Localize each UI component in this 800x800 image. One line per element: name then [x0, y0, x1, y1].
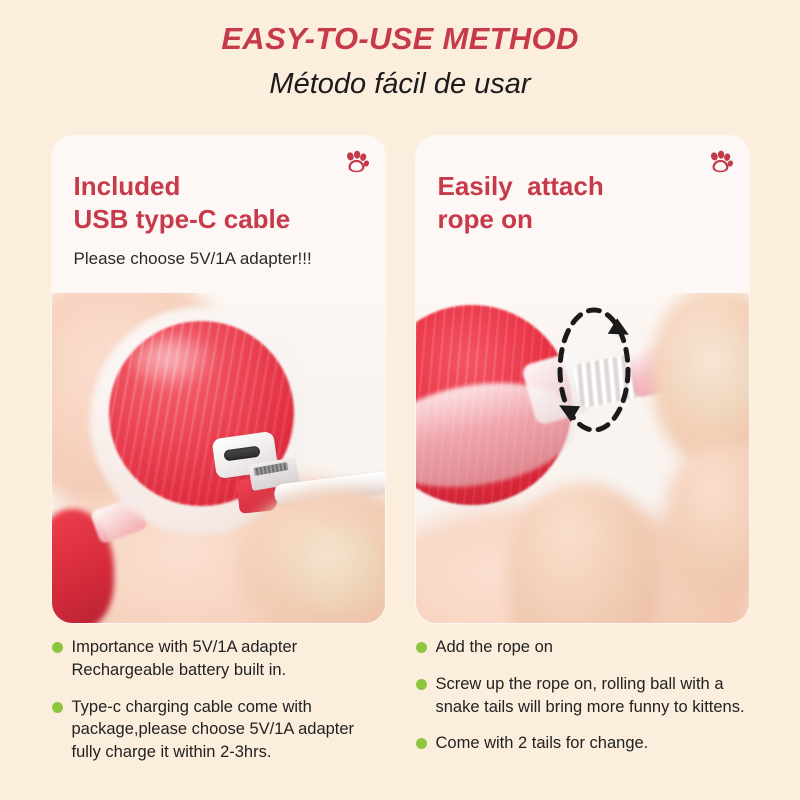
page-header: EASY-TO-USE METHOD Método fácil de usar — [0, 0, 800, 101]
list-item-text: Come with 2 tails for change. — [436, 732, 649, 755]
card-heading-block: Easily attach rope on — [438, 170, 731, 237]
rotation-arrow-icon — [542, 299, 646, 441]
instruction-cards-row: Included USB type-C cable Please choose … — [0, 136, 800, 623]
bullet-dot-icon — [416, 679, 427, 690]
bullet-dot-icon — [416, 738, 427, 749]
list-item: Come with 2 tails for change. — [416, 732, 749, 755]
product-photo-usb-charging — [52, 293, 385, 623]
list-item: Screw up the rope on, rolling ball with … — [416, 673, 749, 719]
list-item: Type-c charging cable come with package,… — [52, 696, 385, 764]
card-heading-block: Included USB type-C cable Please choose … — [74, 170, 367, 270]
bullet-dot-icon — [416, 642, 427, 653]
card-title: Easily attach rope on — [438, 170, 731, 237]
bullet-list-left: Importance with 5V/1A adapter Rechargeab… — [52, 636, 385, 778]
list-item-text: Importance with 5V/1A adapter Rechargeab… — [72, 636, 385, 682]
bullet-dot-icon — [52, 702, 63, 713]
list-item: Add the rope on — [416, 636, 749, 659]
list-item-text: Type-c charging cable come with package,… — [72, 696, 385, 764]
page-title-english: EASY-TO-USE METHOD — [0, 22, 800, 56]
list-item: Importance with 5V/1A adapter Rechargeab… — [52, 636, 385, 682]
bullet-list-right: Add the rope on Screw up the rope on, ro… — [416, 636, 749, 778]
instruction-card-attach-rope: Easily attach rope on — [416, 136, 749, 623]
card-subtitle: Please choose 5V/1A adapter!!! — [74, 248, 367, 270]
bullet-lists-row: Importance with 5V/1A adapter Rechargeab… — [0, 636, 800, 778]
list-item-text: Add the rope on — [436, 636, 553, 659]
list-item-text: Screw up the rope on, rolling ball with … — [436, 673, 749, 719]
card-title: Included USB type-C cable — [74, 170, 367, 237]
product-photo-rope-attachment — [416, 293, 749, 623]
bullet-dot-icon — [52, 642, 63, 653]
instruction-card-usb-cable: Included USB type-C cable Please choose … — [52, 136, 385, 623]
page-title-spanish: Método fácil de usar — [0, 69, 800, 101]
